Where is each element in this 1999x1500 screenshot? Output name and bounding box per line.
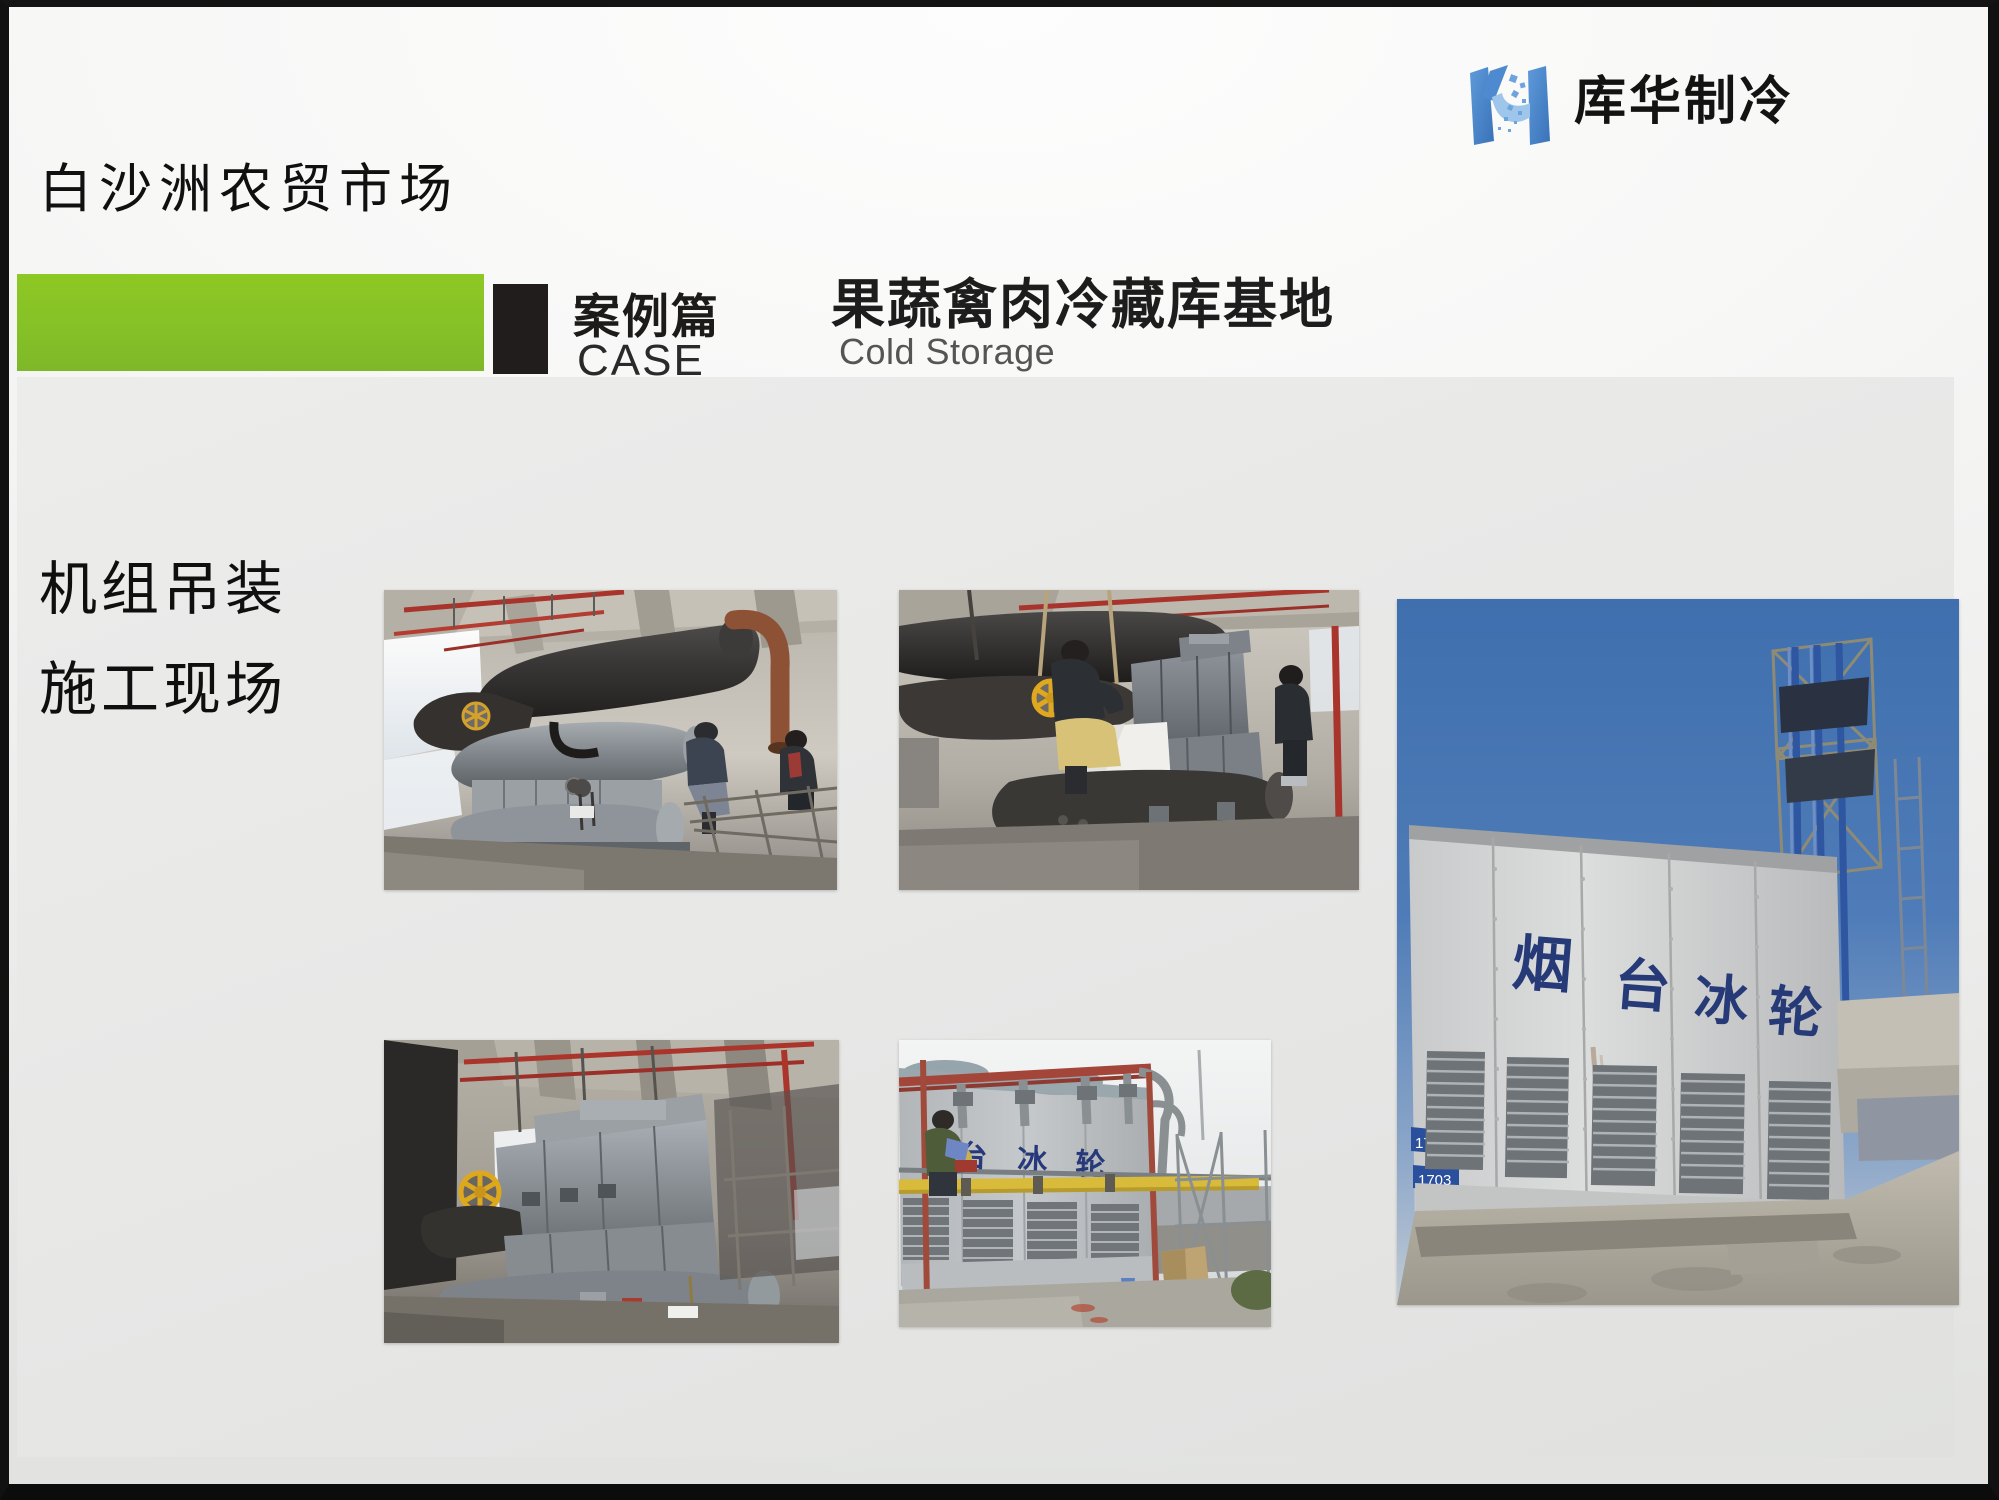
- page-title: 白沙洲农贸市场: [39, 147, 459, 223]
- svg-text:冰: 冰: [1692, 967, 1752, 1034]
- section-banner: 案例篇 CASE 果蔬禽肉冷藏库基地 Cold Storage: [9, 274, 1709, 371]
- svg-text:轮: 轮: [1766, 979, 1825, 1046]
- subject-heading-cn: 果蔬禽肉冷藏库基地: [831, 260, 1335, 339]
- photo-compressor-unit-worker[interactable]: [899, 590, 1359, 890]
- brand-logo-text: 库华制冷: [1574, 76, 1794, 128]
- banner-black-block: [493, 284, 548, 374]
- kh-monogram-icon: [1464, 57, 1560, 147]
- photo-compressor-unit-hoisting[interactable]: [384, 590, 837, 890]
- photo-compressor-unit-rigging[interactable]: [384, 1040, 839, 1343]
- side-label-1: 机组吊装: [39, 542, 287, 626]
- side-label-2: 施工现场: [39, 642, 287, 726]
- photo-evaporative-condenser-tower[interactable]: 烟 台 冰 轮 1702上 1703: [1397, 599, 1959, 1305]
- banner-green-bar: [17, 274, 484, 371]
- photo-condenser-piping-install[interactable]: 台 冰 轮: [899, 1040, 1271, 1327]
- svg-text:台: 台: [1612, 952, 1673, 1021]
- subject-heading-en: Cold Storage: [839, 331, 1055, 373]
- svg-text:烟: 烟: [1510, 928, 1575, 1002]
- brand-logo: 库华制冷: [1464, 57, 1794, 147]
- slide-root: 库华制冷 白沙洲农贸市场 案例篇 CASE 果蔬禽肉冷藏库基地 Cold Sto…: [0, 0, 1999, 1500]
